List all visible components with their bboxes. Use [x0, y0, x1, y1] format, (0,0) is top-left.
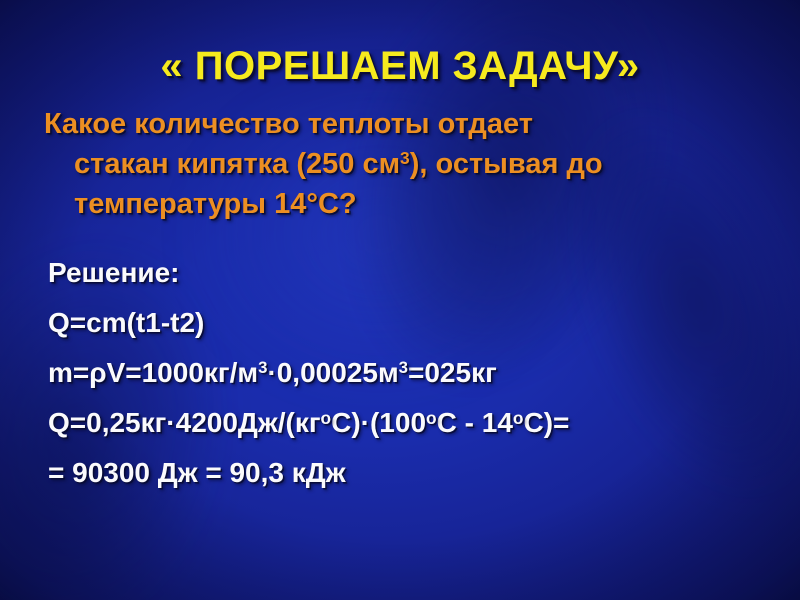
- presentation-slide: « ПОРЕШАЕМ ЗАДАЧУ» Какое количество тепл…: [0, 0, 800, 600]
- problem-statement: Какое количество теплоты отдает стакан к…: [44, 104, 744, 224]
- problem-line-2: стакан кипятка (250 см3), остывая до: [44, 144, 744, 184]
- slide-content: « ПОРЕШАЕМ ЗАДАЧУ» Какое количество тепл…: [0, 0, 800, 600]
- degree-symbol: o: [426, 408, 437, 428]
- degree-symbol: °: [306, 188, 318, 220]
- slide-title: « ПОРЕШАЕМ ЗАДАЧУ»: [0, 44, 800, 89]
- solution-heading: Решение:: [48, 248, 768, 298]
- problem-line-1: Какое количество теплоты отдает: [44, 104, 744, 144]
- cubic-meter-exponent: 3: [258, 358, 267, 377]
- solution-mass-calculation: m=ρV=1000кг/м3·0,00025м3=025кг: [48, 348, 768, 398]
- solution-formula-heat: Q=cm(t1-t2): [48, 298, 768, 348]
- cubic-meter-exponent: 3: [399, 358, 408, 377]
- solution-heat-calculation: Q=0,25кг·4200Дж/(кгoС)·(100oС - 14oС)=: [48, 398, 768, 448]
- degree-symbol: o: [321, 408, 332, 428]
- solution-block: Решение: Q=cm(t1-t2) m=ρV=1000кг/м3·0,00…: [48, 248, 768, 498]
- degree-symbol: o: [513, 408, 524, 428]
- problem-line-3: температуры 14°C?: [44, 184, 744, 224]
- solution-answer: = 90300 Дж = 90,3 кДж: [48, 448, 768, 498]
- volume-exponent: 3: [400, 148, 410, 168]
